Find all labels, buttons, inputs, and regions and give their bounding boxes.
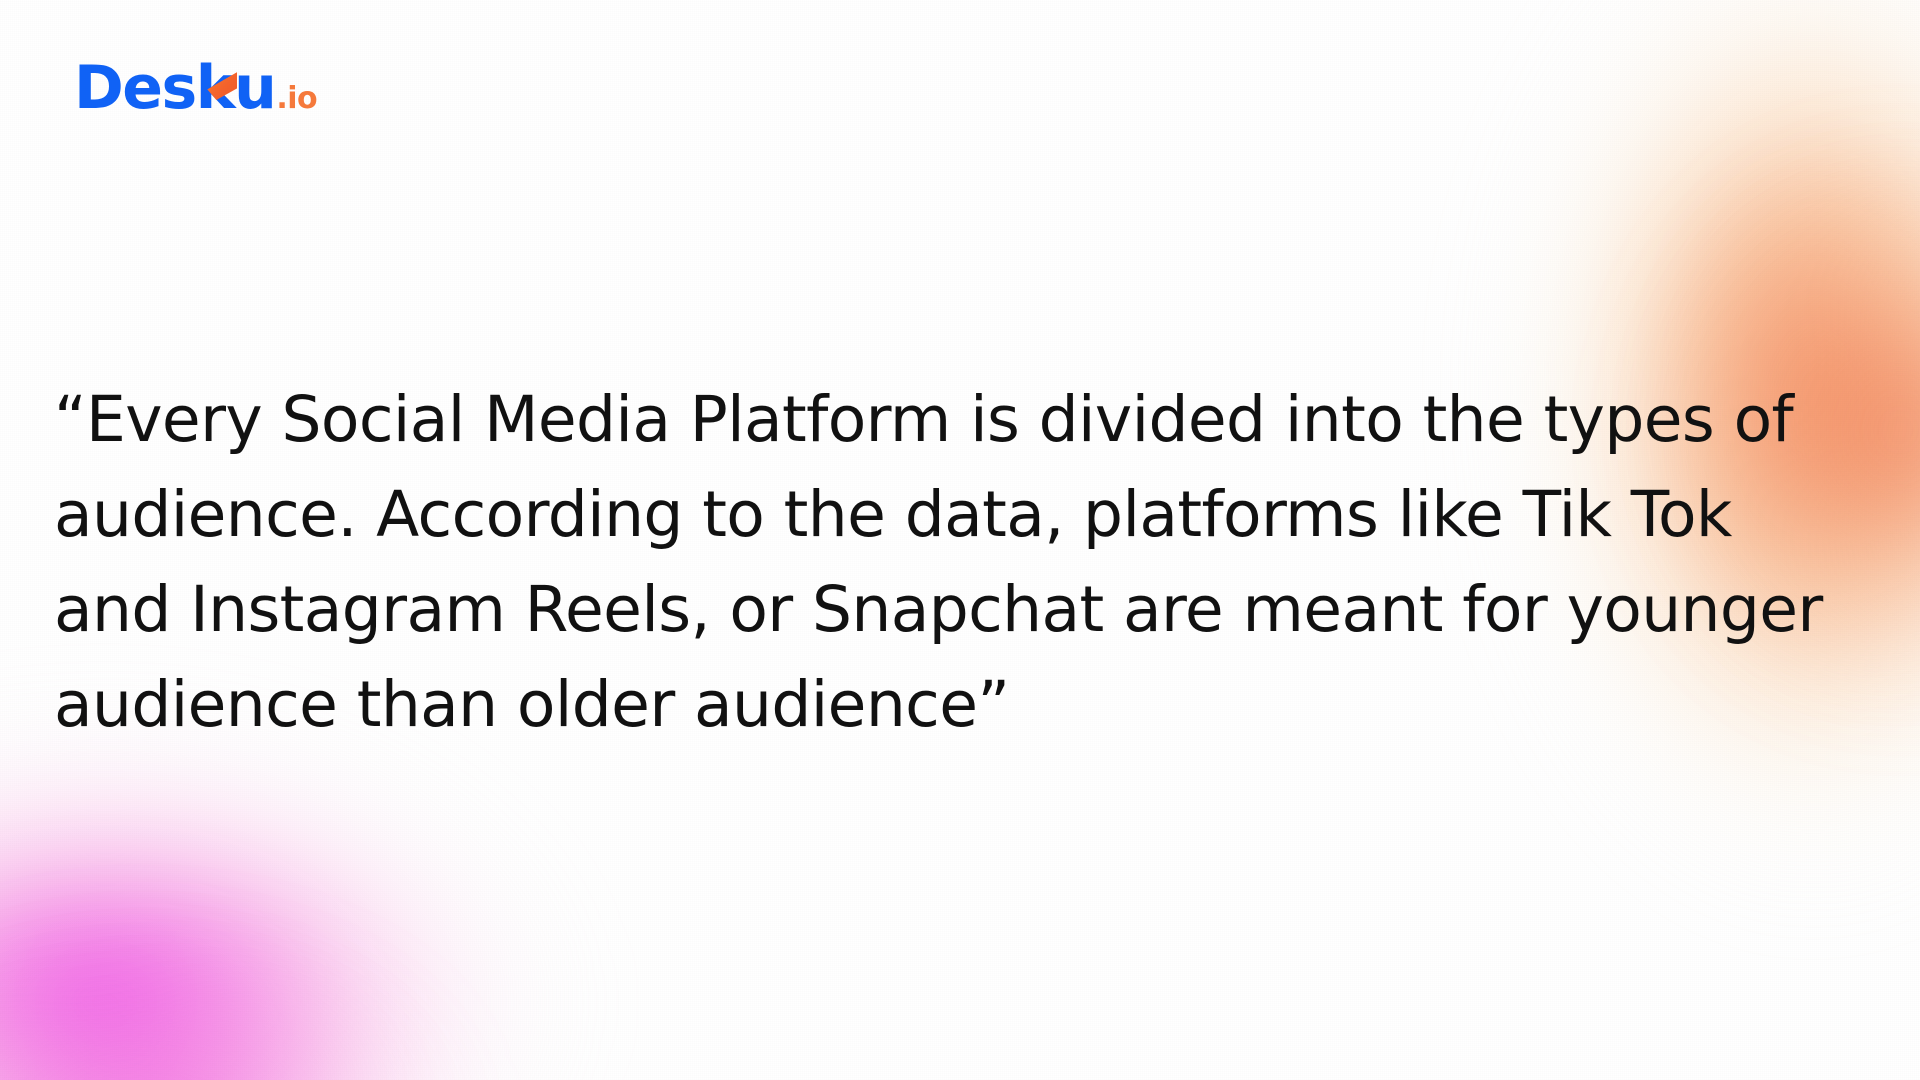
logo-wordmark-text: Desku	[74, 53, 275, 123]
logo-wordmark-group: Desku	[74, 58, 275, 120]
desku-logo[interactable]: Desku .io	[74, 58, 317, 120]
logo-tld-text: .io	[276, 84, 317, 114]
quote-card-canvas: Desku .io “Every Social Media Platform i…	[0, 0, 1920, 1080]
card-content: Desku .io “Every Social Media Platform i…	[0, 0, 1920, 1080]
quote-text: “Every Social Media Platform is divided …	[54, 372, 1866, 752]
